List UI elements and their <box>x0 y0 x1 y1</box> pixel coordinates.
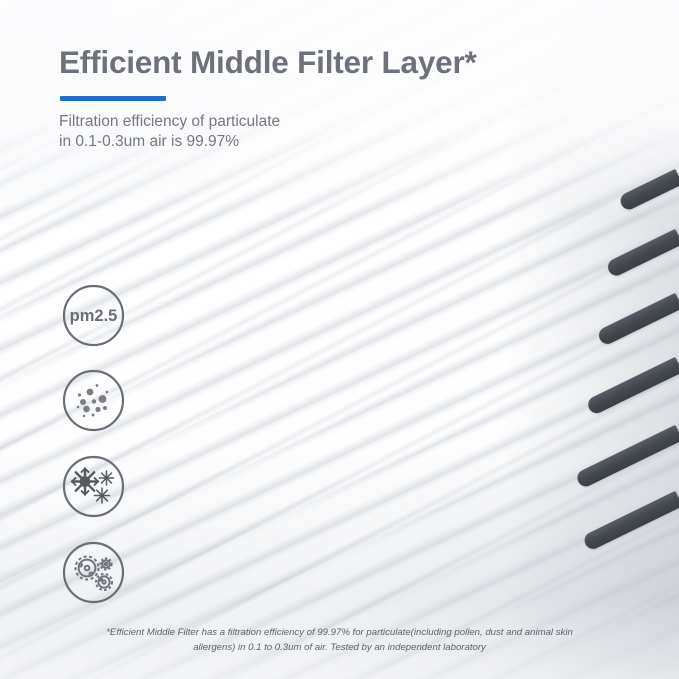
snowflake-icon <box>62 455 125 518</box>
subtitle: Filtration efficiency of particulate in … <box>59 112 280 152</box>
pleat-tip <box>596 293 679 347</box>
pleat-tip <box>582 491 679 552</box>
pleat-tip <box>575 425 679 489</box>
footnote: *Efficient Middle Filter has a filtratio… <box>70 625 610 655</box>
particles-icon <box>62 369 125 432</box>
page-title: Efficient Middle Filter Layer* <box>59 44 477 81</box>
pm25-icon: pm2.5 <box>62 284 125 347</box>
feature-badge-pm25: pm2.5 <box>62 284 125 347</box>
feature-badge-particles <box>62 369 125 432</box>
pleat-tip <box>618 169 679 212</box>
pleat-tip <box>605 229 679 278</box>
gears-icon <box>62 541 125 604</box>
accent-bar <box>60 96 166 101</box>
dark-pleat-tips <box>519 0 679 679</box>
feature-badge-bacteria <box>62 541 125 604</box>
product-feature-banner: Efficient Middle Filter Layer* Filtratio… <box>0 0 679 679</box>
pm25-label: pm2.5 <box>70 307 118 325</box>
feature-badge-snowflakes <box>62 455 125 518</box>
pleat-tip <box>585 357 679 416</box>
